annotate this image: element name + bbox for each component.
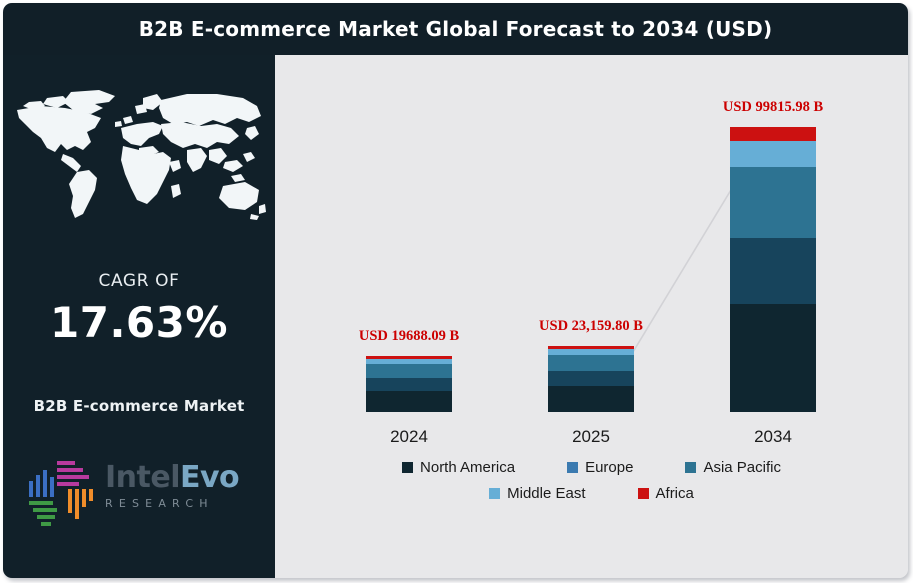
bar-value-label-2034: USD 99815.98 B [688, 99, 858, 116]
legend-label: North America [420, 459, 515, 476]
x-axis-label-2034: 2034 [713, 427, 833, 447]
logo-word-part1: Intel [105, 460, 180, 495]
bar-segment-europe[interactable] [730, 238, 816, 304]
bar-2025[interactable] [548, 346, 634, 412]
chart-legend: North AmericaEuropeAsia PacificMiddle Ea… [275, 459, 908, 511]
legend-swatch-icon [685, 462, 696, 473]
logo-tagline: RESEARCH [105, 497, 265, 510]
bar-segment-africa[interactable] [730, 127, 816, 141]
bar-segment-asia-pacific[interactable] [548, 355, 634, 371]
intelevo-pinwheel-logo-icon [25, 457, 99, 529]
bar-segment-middle-east[interactable] [730, 141, 816, 167]
legend-item-europe[interactable]: Europe [567, 459, 633, 476]
legend-swatch-icon [638, 488, 649, 499]
legend-label: Asia Pacific [703, 459, 781, 476]
legend-label: Africa [656, 485, 694, 502]
world-map-icon [11, 88, 267, 221]
bar-2034[interactable] [730, 127, 816, 412]
legend-swatch-icon [402, 462, 413, 473]
bar-value-label-2024: USD 19688.09 B [324, 328, 494, 345]
x-axis-label-2025: 2025 [531, 427, 651, 447]
brand-logo: IntelEvo RESEARCH [25, 455, 261, 531]
bar-segment-asia-pacific[interactable] [730, 167, 816, 238]
legend-swatch-icon [567, 462, 578, 473]
bar-value-label-2025: USD 23,159.80 B [506, 318, 676, 335]
logo-word-part2: Evo [180, 460, 239, 495]
legend-swatch-icon [489, 488, 500, 499]
bar-segment-europe[interactable] [548, 371, 634, 386]
legend-item-asia-pacific[interactable]: Asia Pacific [685, 459, 781, 476]
cagr-value: 17.63% [3, 298, 275, 347]
legend-item-middle-east[interactable]: Middle East [489, 485, 585, 502]
header-bar: B2B E-commerce Market Global Forecast to… [3, 3, 908, 55]
bar-segment-europe[interactable] [366, 378, 452, 391]
bar-segment-asia-pacific[interactable] [366, 364, 452, 378]
bar-segment-north-america[interactable] [548, 386, 634, 412]
sidebar-panel: CAGR OF 17.63% B2B E-commerce Market [3, 55, 275, 578]
bar-segment-north-america[interactable] [366, 391, 452, 412]
bar-segment-north-america[interactable] [730, 304, 816, 412]
legend-item-africa[interactable]: Africa [638, 485, 694, 502]
market-name-label: B2B E-commerce Market [3, 397, 275, 415]
legend-label: Middle East [507, 485, 585, 502]
legend-item-north-america[interactable]: North America [402, 459, 515, 476]
page-title: B2B E-commerce Market Global Forecast to… [139, 17, 773, 41]
cagr-caption: CAGR OF [3, 271, 275, 291]
bar-2024[interactable] [366, 356, 452, 412]
chart-area: USD 19688.09 B2024USD 23,159.80 B2025USD… [275, 55, 908, 578]
logo-wordmark: IntelEvo RESEARCH [105, 461, 265, 527]
x-axis-label-2024: 2024 [349, 427, 469, 447]
legend-label: Europe [585, 459, 633, 476]
legend-row: North AmericaEuropeAsia Pacific [275, 459, 908, 476]
legend-row: Middle EastAfrica [275, 485, 908, 502]
infographic-card: B2B E-commerce Market Global Forecast to… [3, 3, 908, 578]
